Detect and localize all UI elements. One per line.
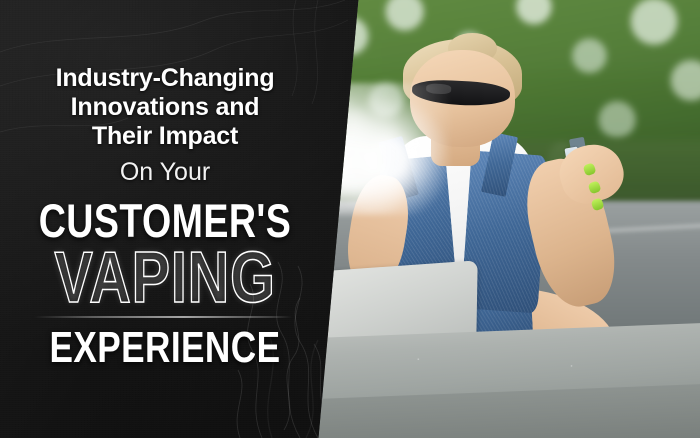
- emphasis-vaping-outlined: VAPING: [33, 240, 297, 316]
- headline-group: Industry-Changing Innovations and Their …: [0, 0, 330, 438]
- promo-banner: Industry-Changing Innovations and Their …: [0, 0, 700, 438]
- headline-line-3: Their Impact: [0, 122, 330, 151]
- emphasis-experience: EXPERIENCE: [33, 324, 297, 371]
- headline-line-1: Industry-Changing: [0, 64, 330, 93]
- divider-rule: [34, 316, 292, 318]
- headline-subline: On Your: [0, 157, 330, 187]
- headline-line-2: Innovations and: [0, 93, 330, 122]
